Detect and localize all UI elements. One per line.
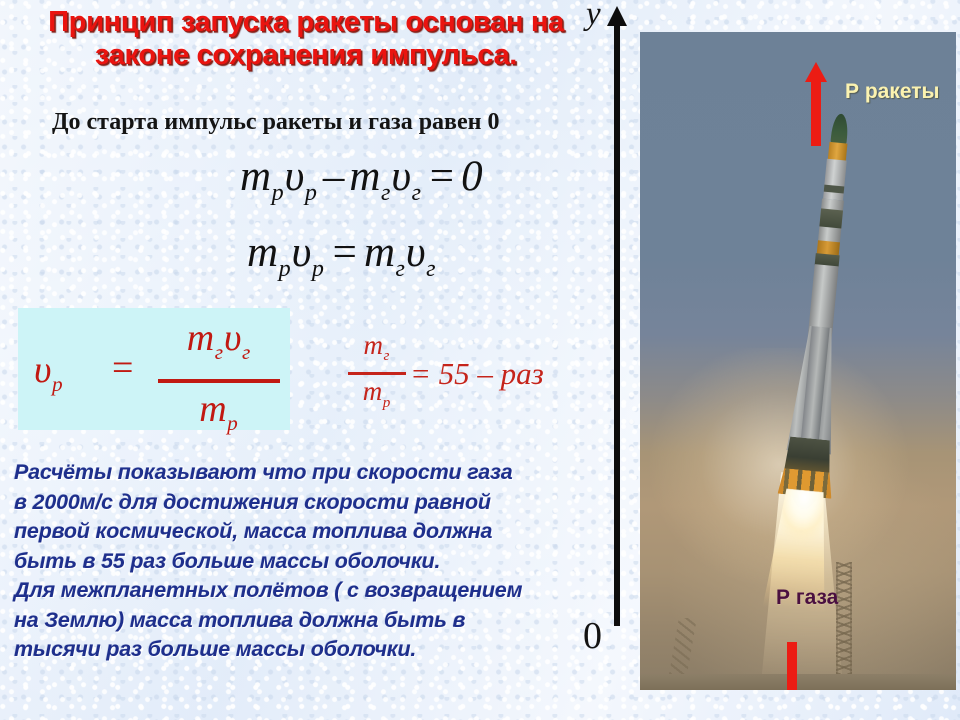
boxed-v: υ [34,349,51,391]
arrow-shaft [787,642,797,690]
rocket-nose-cone [830,113,849,144]
highlighted-formula-box: υр = mгυг mр [18,308,290,430]
boxed-numerator: mгυг [158,314,280,376]
arrow-shaft [811,80,821,146]
ratio-numerator: mг [348,330,406,371]
eq1-m1-sub: р [272,180,284,206]
ratio-fraction-bar [348,372,406,375]
eq2-m2: m [364,229,395,276]
boxed-den-m: m [199,388,226,430]
page-title: Принцип запуска ракеты основан на законе… [6,6,606,72]
subheading: До старта импульс ракеты и газа равен 0 [52,108,582,137]
eq1-rhs: 0 [461,153,483,200]
ratio-num-m: m [364,330,384,360]
eq1-m2: m [349,153,380,200]
equation-momentum-equality: mрυр=mгυг [247,228,437,283]
eq2-m1-sub: р [279,256,291,282]
rocket-band-dark-mid [819,208,843,228]
boxed-lhs: υр [34,348,64,397]
gas-momentum-arrow-down-icon [781,642,803,690]
paragraph-line: первой космической, масса топлива должна [14,517,614,547]
boxed-num-v: υ [224,317,241,359]
boxed-den-m-sub: р [227,411,238,435]
eq1-operator: – [318,153,350,200]
eq2-equals: = [325,229,364,276]
paragraph-line: на Землю) масса топлива должна быть в [14,606,614,636]
ratio-num-m-sub: г [384,348,390,364]
equation-mass-ratio: mг mр = 55 – раз [348,330,544,418]
boxed-num-v-sub: г [242,340,250,364]
eq2-m1: m [247,229,278,276]
paragraph-line: Для межпланетных полётов ( с возвращение… [14,576,614,606]
ratio-den-m: m [363,376,383,406]
launch-tower [836,562,852,674]
explanation-paragraph: Расчёты показывают что при скорости газа… [14,458,614,665]
y-axis-label: y [586,0,601,33]
boxed-equals: = [112,346,133,390]
boxed-denominator: mр [158,385,280,447]
ratio-fraction: mг mр [348,330,406,418]
ratio-denominator: mр [348,376,406,417]
ratio-result: = 55 – раз [410,356,544,392]
eq2-v1: υ [292,229,312,276]
boxed-v-sub: р [52,372,63,396]
boxed-fraction: mгυг mр [158,314,280,447]
slide-canvas: Принцип запуска ракеты основан на законе… [0,0,960,720]
boxed-num-m-sub: г [215,340,223,364]
boxed-fraction-bar [158,379,280,383]
paragraph-line: Расчёты показывают что при скорости газа [14,458,614,488]
eq1-v2: υ [391,153,411,200]
equation-momentum-difference: mрυр–mгυг=0 [240,152,483,207]
eq1-v2-sub: г [412,180,421,206]
eq2-v1-sub: р [312,256,324,282]
rocket-momentum-label: Р ракеты [845,80,939,104]
rocket-momentum-arrow-up-icon [805,62,827,146]
eq1-v1: υ [285,153,305,200]
boxed-num-m: m [187,317,214,359]
eq1-m1: m [240,153,271,200]
paragraph-line: быть в 55 раз больше массы оболочки. [14,547,614,577]
ratio-den-m-sub: р [383,395,391,411]
eq2-v2: υ [406,229,426,276]
axis-origin-label: 0 [583,614,602,658]
paragraph-line: в 2000м/с для достижения скорости равной [14,488,614,518]
eq1-m2-sub: г [381,180,390,206]
gas-momentum-label: Р газа [776,586,838,610]
eq2-m2-sub: г [396,256,405,282]
paragraph-line: тысячи раз больше массы оболочки. [14,635,614,665]
rocket-launch-photo: Р ракеты Р газа [640,32,956,690]
eq1-v1-sub: р [305,180,317,206]
rocket-payload-section [823,159,847,201]
y-axis-line [614,22,620,626]
arrow-head [805,62,827,82]
eq1-equals: = [422,153,461,200]
eq2-v2-sub: г [426,256,435,282]
